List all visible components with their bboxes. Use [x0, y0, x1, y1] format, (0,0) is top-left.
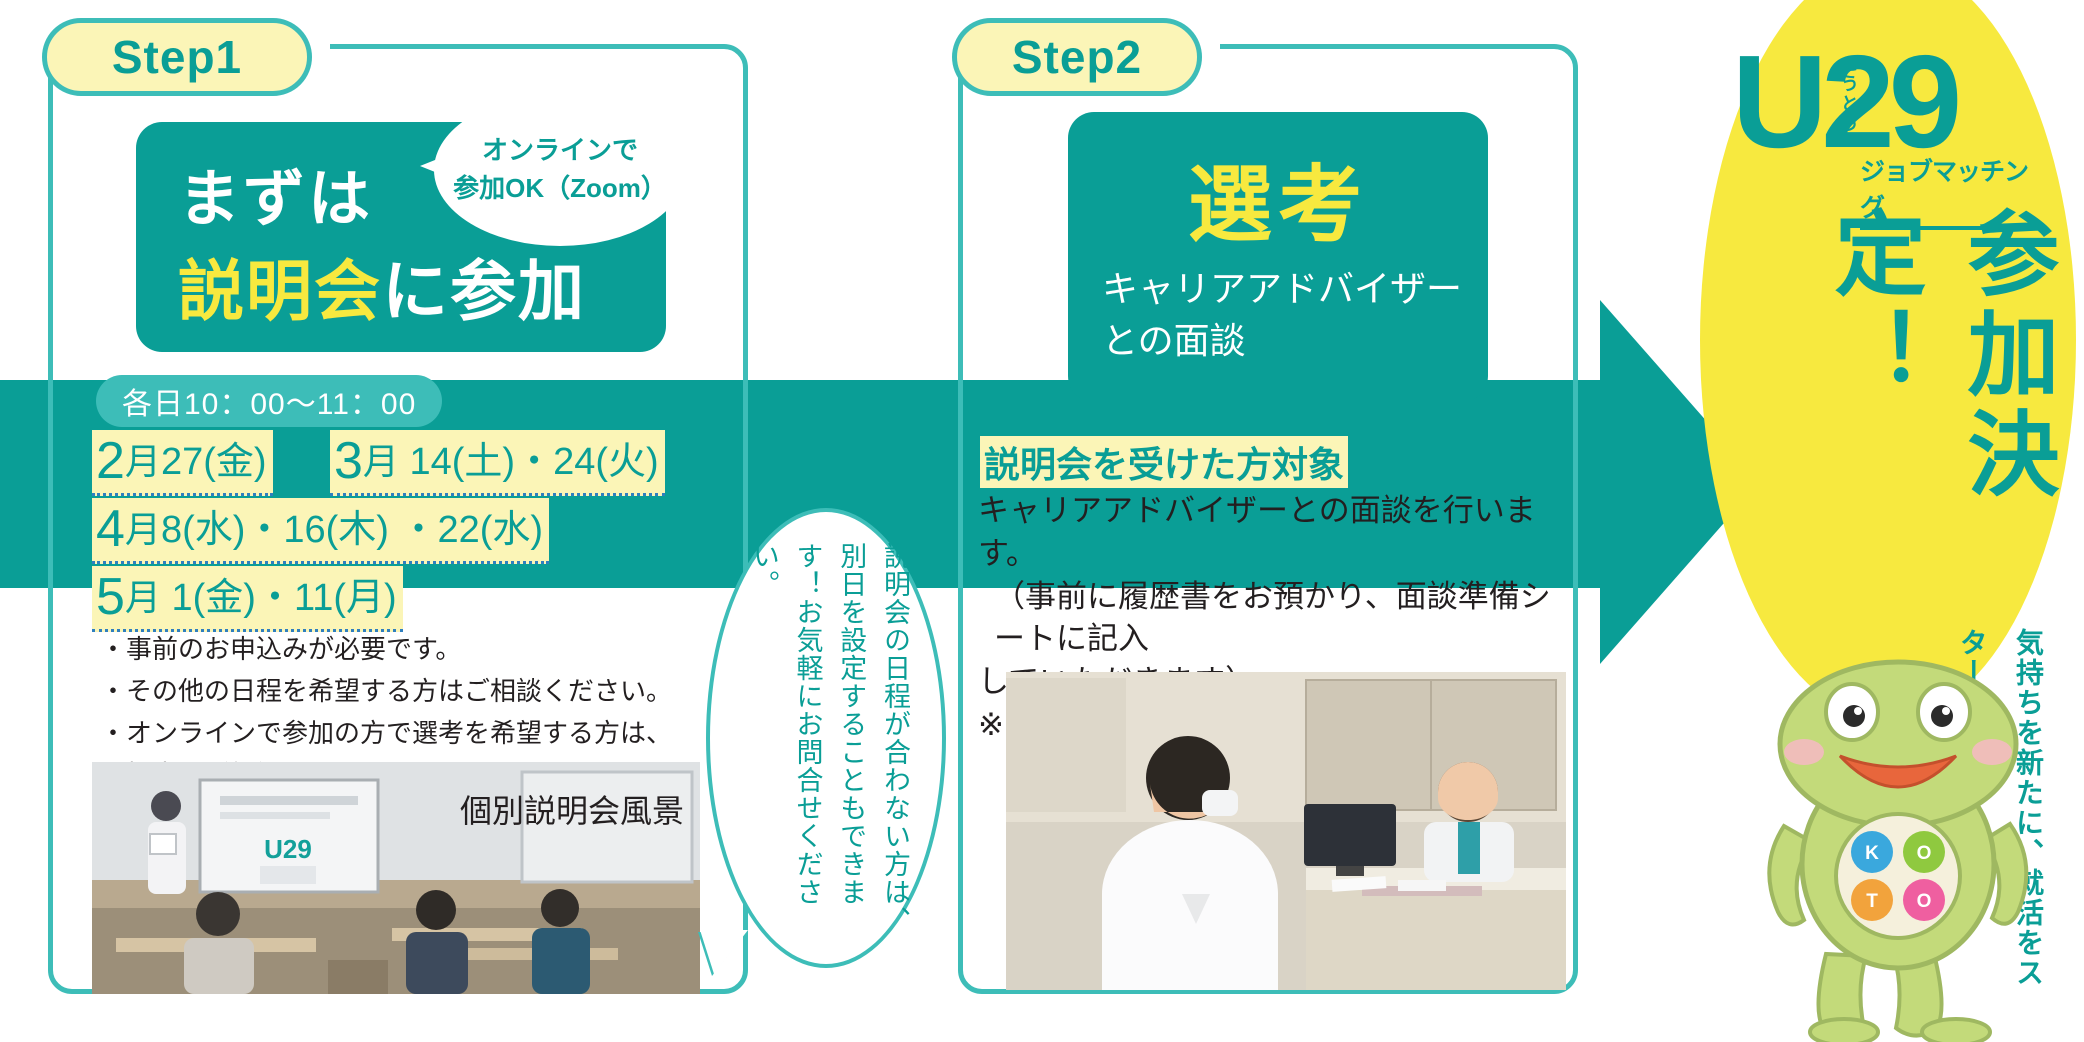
koto-mascot: K O T O: [1748, 648, 2048, 1042]
list-item: ・その他の日程を希望する方はご相談ください。: [100, 670, 700, 712]
date-row-mar: 3月 14(土)・24(火): [330, 430, 665, 496]
date-month-num: 5: [96, 568, 125, 626]
frame1-band-overlap: [56, 382, 66, 586]
svg-text:K: K: [1865, 843, 1879, 864]
interview-photo: [1006, 672, 1566, 990]
step1-headline-line1: まずは: [178, 148, 373, 238]
date-days: 14(土)・24(火): [399, 441, 659, 483]
photo-caption: 個別説明会風景: [460, 786, 684, 832]
date-month-num: 3: [334, 432, 363, 490]
step2-body-line: （事前に履歴書をお預かり、面談準備シートに記入: [978, 576, 1578, 662]
step1-tag-label: Step1: [112, 30, 242, 84]
step1-headline-highlight: 説明会: [178, 254, 382, 328]
step2-headline-sub1: キャリアアドバイザー: [1102, 260, 1462, 312]
date-days: 8(水)・16(木) ・22(水): [161, 509, 543, 551]
zoom-bubble-line2: 参加OK（Zoom）: [453, 170, 667, 208]
step2-tag: Step2: [952, 18, 1202, 96]
u29-logo: U29 こうとう ジョブマッチング: [1732, 36, 2032, 186]
svg-text:T: T: [1866, 891, 1878, 912]
step1-tag: Step1: [42, 18, 312, 96]
schedule-note-text: 説明会の日程が合わない方は、別日を設定することもできます！お気軽にお問合せくださ…: [741, 542, 916, 934]
step1-headline-rest: に参加: [382, 254, 586, 328]
date-row-may: 5月 1(金)・11(月): [92, 566, 403, 632]
date-days: 1(金)・11(月): [161, 577, 397, 619]
date-month-kanji: 月: [125, 509, 161, 550]
svg-text:O: O: [1917, 843, 1932, 864]
mascot-illustration: K O T O: [1748, 648, 2048, 1042]
interview-photo-illustration: [1006, 672, 1566, 990]
briefing-session-photo: U29 個別説明会風景: [92, 762, 700, 994]
list-item: ・事前のお申込みが必要です。: [100, 628, 700, 670]
step2-headline-big: 選考: [1068, 138, 1488, 259]
step1-time-label: 各日10：00〜11：00: [122, 379, 416, 423]
svg-text:O: O: [1917, 891, 1932, 912]
u29-logo-furigana: こうとう: [1836, 54, 1862, 134]
date-month-kanji: 月: [125, 577, 161, 618]
svg-text:U29: U29: [264, 834, 312, 864]
step2-tag-label: Step2: [1012, 30, 1142, 84]
schedule-note-bubble: 説明会の日程が合わない方は、別日を設定することもできます！お気軽にお問合せくださ…: [706, 508, 946, 968]
step2-headline-box: 選考 キャリアアドバイザー との面談: [1068, 112, 1488, 402]
join-decision-text: 参加決定！: [1806, 206, 2072, 636]
date-month-kanji: 月: [125, 441, 161, 482]
date-row-apr: 4月8(水)・16(木) ・22(水): [92, 498, 549, 564]
step1-headline-line2: 説明会に参加: [178, 238, 586, 334]
list-item: ・オンラインで参加の方で選考を希望する方は、: [100, 712, 700, 754]
step2-section-heading: 説明会を受けた方対象: [980, 436, 1348, 488]
oval-bubble-tail-icon: [700, 930, 748, 974]
step1-time-pill: 各日10：00〜11：00: [96, 375, 442, 427]
step2-body-line: キャリアアドバイザーとの面談を行います。: [978, 490, 1578, 576]
step2-headline-sub2: との面談: [1102, 312, 1246, 364]
date-days: 27(金): [161, 441, 267, 483]
zoom-bubble-line1: オンラインで: [482, 132, 638, 170]
date-row-feb: 2月27(金): [92, 430, 273, 496]
poster-canvas: Step1 まずは 説明会に参加 オンラインで 参加OK（Zoom） 各日10：…: [0, 0, 2084, 1042]
online-zoom-bubble: オンラインで 参加OK（Zoom）: [434, 94, 686, 246]
date-month-num: 4: [96, 500, 125, 558]
date-month-num: 2: [96, 432, 125, 490]
date-month-kanji: 月: [363, 441, 399, 482]
